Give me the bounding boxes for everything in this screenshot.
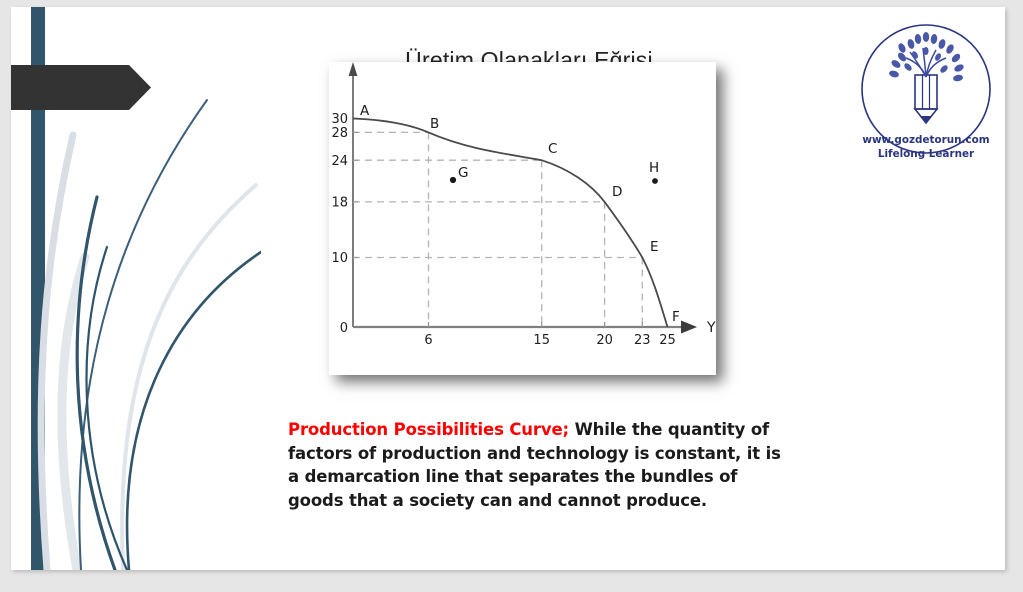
svg-text:28: 28 (331, 126, 348, 141)
decorative-curves (11, 7, 261, 570)
logo-url-text: www.gozdetorun.com (862, 134, 989, 146)
y-tick-labels: 30 28 24 18 10 0 (331, 112, 348, 336)
x-axis-label: Y Malı (706, 320, 716, 336)
chart-axes (349, 62, 697, 334)
x-tick-labels: 6 15 20 23 25 (424, 333, 675, 348)
annotation-point-h: H (649, 160, 659, 184)
svg-text:C: C (548, 141, 557, 157)
svg-text:B: B (430, 116, 439, 132)
logo-gozdetorun[interactable]: www.gozdetorun.com Lifelong Learner (860, 13, 993, 177)
svg-text:A: A (360, 103, 370, 119)
chart-gridlines (353, 119, 642, 328)
body-highlight: Production Possibilities Curve; (288, 420, 569, 439)
svg-text:20: 20 (596, 333, 613, 348)
svg-text:F: F (672, 309, 680, 325)
svg-text:25: 25 (659, 333, 676, 348)
svg-text:E: E (650, 239, 659, 255)
svg-text:10: 10 (331, 251, 348, 266)
logo-tagline: Lifelong Learner (878, 148, 975, 160)
svg-text:23: 23 (634, 333, 651, 348)
curve-point-labels: A B C D E F (360, 103, 680, 325)
slide-canvas: www.gozdetorun.com Lifelong Learner Üret… (0, 0, 1023, 592)
svg-text:6: 6 (424, 333, 432, 348)
svg-text:24: 24 (331, 154, 348, 169)
svg-text:30: 30 (331, 112, 348, 127)
svg-text:0: 0 (340, 321, 348, 336)
slide: www.gozdetorun.com Lifelong Learner Üret… (11, 7, 1005, 570)
production-possibilities-chart: 30 28 24 18 10 0 6 15 20 23 25 X Malı (329, 62, 716, 375)
svg-text:15: 15 (533, 333, 550, 348)
svg-text:D: D (612, 184, 622, 200)
svg-text:H: H (649, 160, 659, 176)
annotation-point-g: G (450, 165, 469, 183)
chart-tickmarks (353, 119, 642, 328)
chart-figure[interactable]: 30 28 24 18 10 0 6 15 20 23 25 X Malı (329, 62, 716, 375)
body-paragraph: Production Possibilities Curve; While th… (288, 418, 788, 512)
svg-text:18: 18 (331, 196, 348, 211)
svg-text:G: G (458, 165, 468, 181)
ppf-curve (353, 119, 668, 328)
